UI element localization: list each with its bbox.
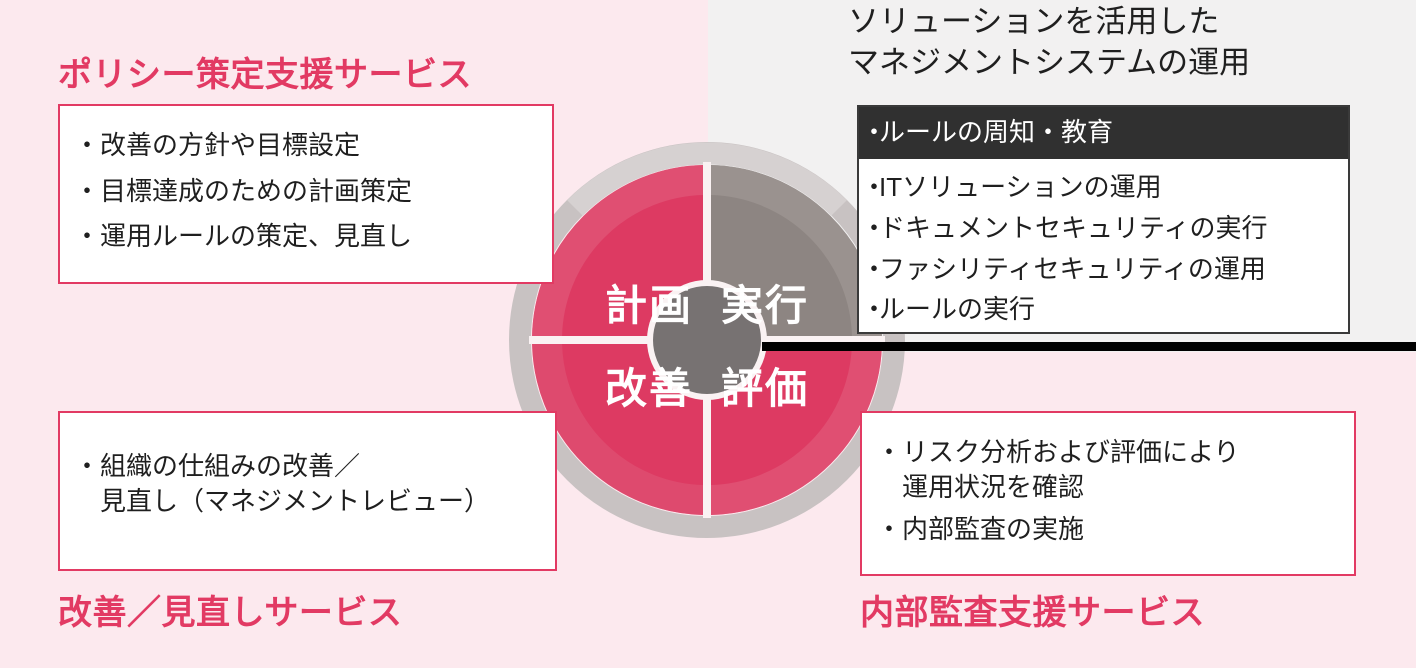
list-item: 組織の仕組みの改善／ 見直し（マネジメントレビュー）: [78, 449, 555, 518]
list-item: 運用ルールの策定、見直し: [78, 219, 552, 254]
list-item: 改善の方針や目標設定: [78, 128, 552, 163]
audit-service-box: リスク分析および評価により 運用状況を確認 内部監査の実施: [860, 411, 1356, 576]
audit-service-title: 内部監査支援サービス: [860, 585, 1205, 634]
improvement-service-box: 組織の仕組みの改善／ 見直し（マネジメントレビュー）: [58, 411, 557, 571]
policy-bullet-list: 改善の方針や目標設定 目標達成のための計画策定 運用ルールの策定、見直し: [60, 106, 552, 254]
policy-service-title: ポリシー策定支援サービス: [58, 47, 472, 96]
operations-heading-line1: ソリューションを活用した: [848, 2, 1250, 43]
wheel-label-do: 実行: [705, 285, 825, 327]
wheel-label-plan: 計画: [589, 285, 709, 327]
wheel-label-check: 評価: [705, 368, 825, 410]
list-item: リスク分析および評価により 運用状況を確認: [880, 435, 1354, 504]
wheel-label-act: 改善: [589, 368, 709, 410]
improvement-service-title: 改善／見直しサービス: [58, 585, 402, 634]
diagram-canvas: 計画 実行 改善 評価 ポリシー策定支援サービス 改善の方針や目標設定 目標達成…: [0, 0, 1416, 668]
list-item: 目標達成のための計画策定: [78, 174, 552, 209]
operations-heading-line2: マネジメントシステムの運用: [848, 43, 1250, 84]
operations-box: ルールの周知・教育 ITソリューションの運用 ドキュメントセキュリティの実行 フ…: [857, 105, 1350, 334]
operations-bullet-list: ITソリューションの運用 ドキュメントセキュリティの実行 ファシリティセキュリテ…: [859, 159, 1348, 327]
list-item: ルールの実行: [879, 293, 1348, 327]
audit-bullet-list: リスク分析および評価により 運用状況を確認 内部監査の実施: [862, 413, 1354, 547]
improvement-bullet-list: 組織の仕組みの改善／ 見直し（マネジメントレビュー）: [60, 413, 555, 518]
operations-highlighted-item: ルールの周知・教育: [859, 107, 1348, 159]
operations-heading: ソリューションを活用した マネジメントシステムの運用: [848, 2, 1250, 84]
list-item: ITソリューションの運用: [879, 171, 1348, 205]
list-item: ファシリティセキュリティの運用: [879, 253, 1348, 287]
list-item: ドキュメントセキュリティの実行: [879, 212, 1348, 246]
policy-service-box: 改善の方針や目標設定 目標達成のための計画策定 運用ルールの策定、見直し: [58, 104, 554, 284]
black-divider-bar: [762, 342, 1416, 351]
list-item: 内部監査の実施: [880, 512, 1354, 547]
